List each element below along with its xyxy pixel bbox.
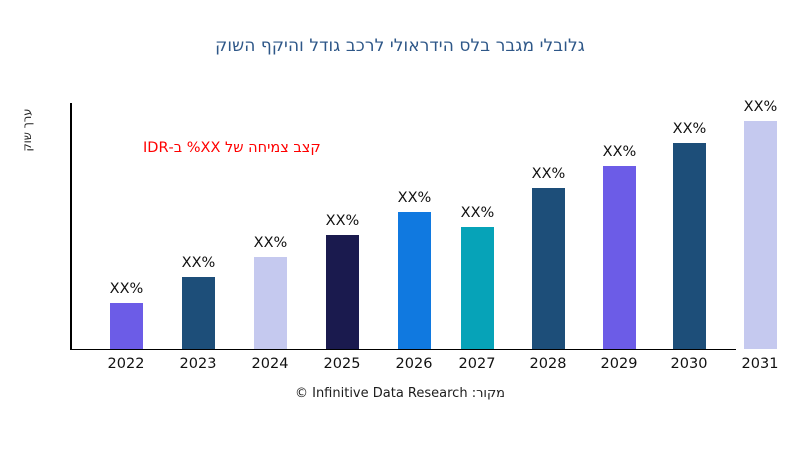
x-tick-2022: 2022 <box>96 356 156 372</box>
x-tick-2029: 2029 <box>589 356 649 372</box>
y-axis-label: ערך שוק <box>20 70 40 190</box>
x-tick-2026: 2026 <box>384 356 444 372</box>
source-footer: מקור: Infinitive Data Research © <box>0 386 800 401</box>
bar-2030[interactable] <box>673 143 706 349</box>
bar-value-label-2026: XX% <box>385 190 444 206</box>
x-tick-2027: 2027 <box>447 356 507 372</box>
bar-2025[interactable] <box>326 235 359 349</box>
chart-title: גלובלי מגבר בלס הידראולי לרכב גודל והיקף… <box>0 36 800 56</box>
bar-2031[interactable] <box>744 121 777 349</box>
bar-2029[interactable] <box>603 166 636 349</box>
x-tick-2031: 2031 <box>730 356 790 372</box>
bar-2023[interactable] <box>182 277 215 349</box>
bar-value-label-2028: XX% <box>519 166 578 182</box>
bar-2028[interactable] <box>532 188 565 349</box>
x-tick-2024: 2024 <box>240 356 300 372</box>
bar-value-label-2022: XX% <box>97 281 156 297</box>
bar-value-label-2025: XX% <box>313 213 372 229</box>
bar-2026[interactable] <box>398 212 431 349</box>
bar-2022[interactable] <box>110 303 143 349</box>
bar-2027[interactable] <box>461 227 494 349</box>
x-tick-2023: 2023 <box>168 356 228 372</box>
bar-value-label-2027: XX% <box>448 205 507 221</box>
bar-2024[interactable] <box>254 257 287 349</box>
bar-value-label-2030: XX% <box>660 121 719 137</box>
x-tick-2025: 2025 <box>312 356 372 372</box>
bar-value-label-2031: XX% <box>731 99 790 115</box>
bar-value-label-2023: XX% <box>169 255 228 271</box>
bar-value-label-2024: XX% <box>241 235 300 251</box>
x-tick-2030: 2030 <box>659 356 719 372</box>
chart-container: גלובלי מגבר בלס הידראולי לרכב גודל והיקף… <box>0 0 800 450</box>
bar-value-label-2029: XX% <box>590 144 649 160</box>
x-tick-2028: 2028 <box>518 356 578 372</box>
